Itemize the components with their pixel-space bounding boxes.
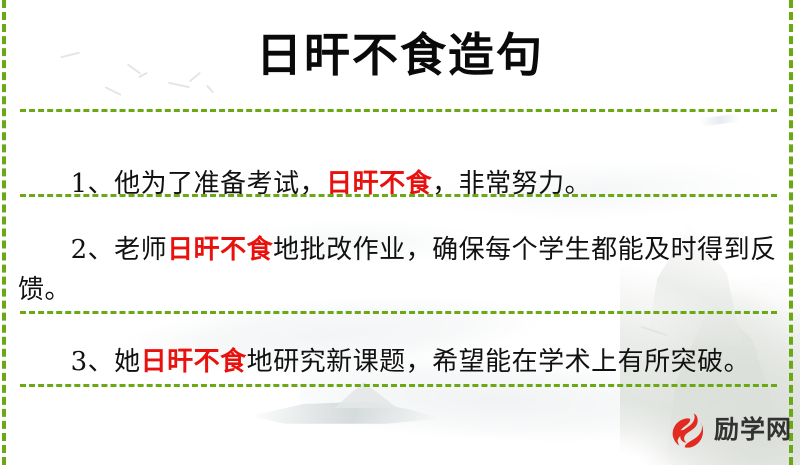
sketch-stroke bbox=[206, 85, 214, 94]
sketch-stroke bbox=[104, 86, 121, 96]
idiom-highlight-3: 日旰不食 bbox=[141, 347, 247, 377]
site-watermark-logo: 励学网 bbox=[668, 410, 792, 450]
site-watermark-label: 励学网 bbox=[714, 416, 792, 444]
divider-after-sentence-2 bbox=[20, 311, 777, 314]
sentence-number-2: 2、 bbox=[71, 235, 115, 265]
ink-boat-shape bbox=[250, 395, 440, 425]
page-root: 日旰不食造句 1、他为了准备考试，日旰不食，非常努力。 2、老师日旰不食地批改作… bbox=[0, 0, 800, 465]
divider-after-sentence-3 bbox=[20, 384, 777, 387]
sentence-item-2: 2、老师日旰不食地批改作业，确保每个学生都能及时得到反馈。 bbox=[18, 190, 780, 302]
sentence-text-before-3: 她 bbox=[114, 347, 141, 377]
sentence-text-after-3: 地研究新课题，希望能在学术上有所突破。 bbox=[247, 347, 751, 377]
divider-under-title bbox=[20, 109, 777, 112]
idiom-highlight-2: 日旰不食 bbox=[167, 235, 273, 265]
sentence-number-3: 3、 bbox=[71, 347, 115, 377]
divider-after-sentence-1 bbox=[20, 194, 777, 197]
sentence-list: 1、他为了准备考试，日旰不食，非常努力。 2、老师日旰不食地批改作业，确保每个学… bbox=[18, 124, 780, 372]
sentence-text-before-2: 老师 bbox=[114, 235, 167, 265]
sentence-item-1: 1、他为了准备考试，日旰不食，非常努力。 bbox=[18, 124, 780, 190]
page-title: 日旰不食造句 bbox=[0, 26, 800, 84]
red-swirl-flame-icon bbox=[668, 410, 708, 450]
